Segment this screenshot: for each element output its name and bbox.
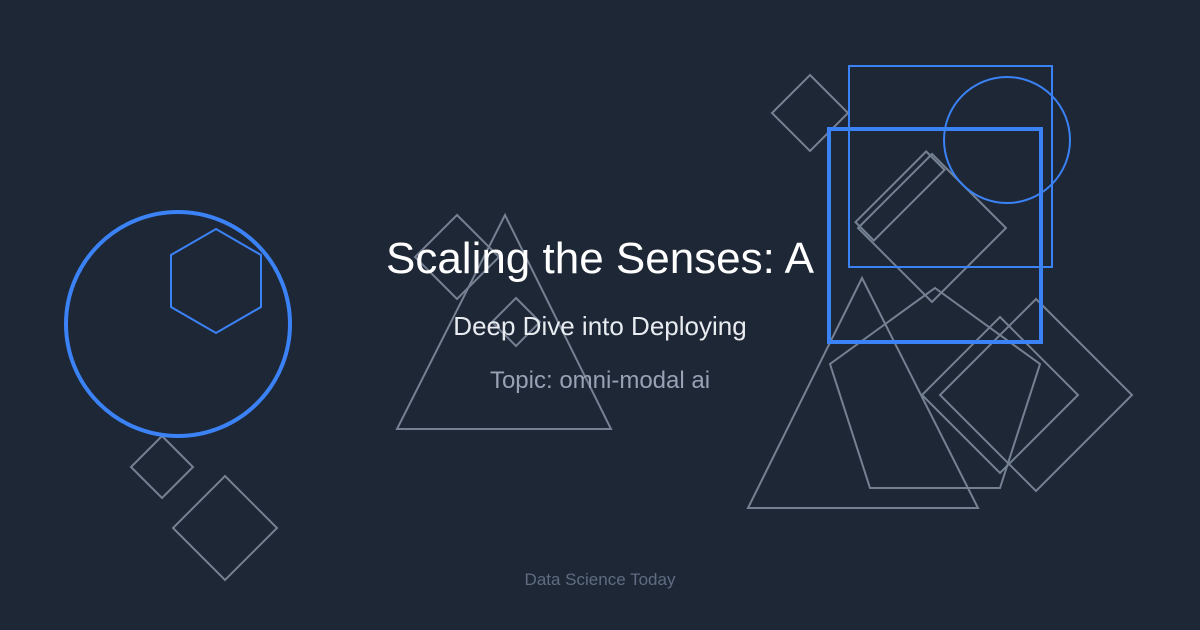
social-card: Scaling the Senses: A Deep Dive into Dep… <box>0 0 1200 630</box>
footer-brand: Data Science Today <box>0 570 1200 590</box>
text-content: Scaling the Senses: A Deep Dive into Dep… <box>0 0 1200 630</box>
page-title: Scaling the Senses: A <box>386 237 814 281</box>
topic-label: Topic: omni-modal ai <box>490 369 710 393</box>
page-subtitle: Deep Dive into Deploying <box>453 313 746 339</box>
